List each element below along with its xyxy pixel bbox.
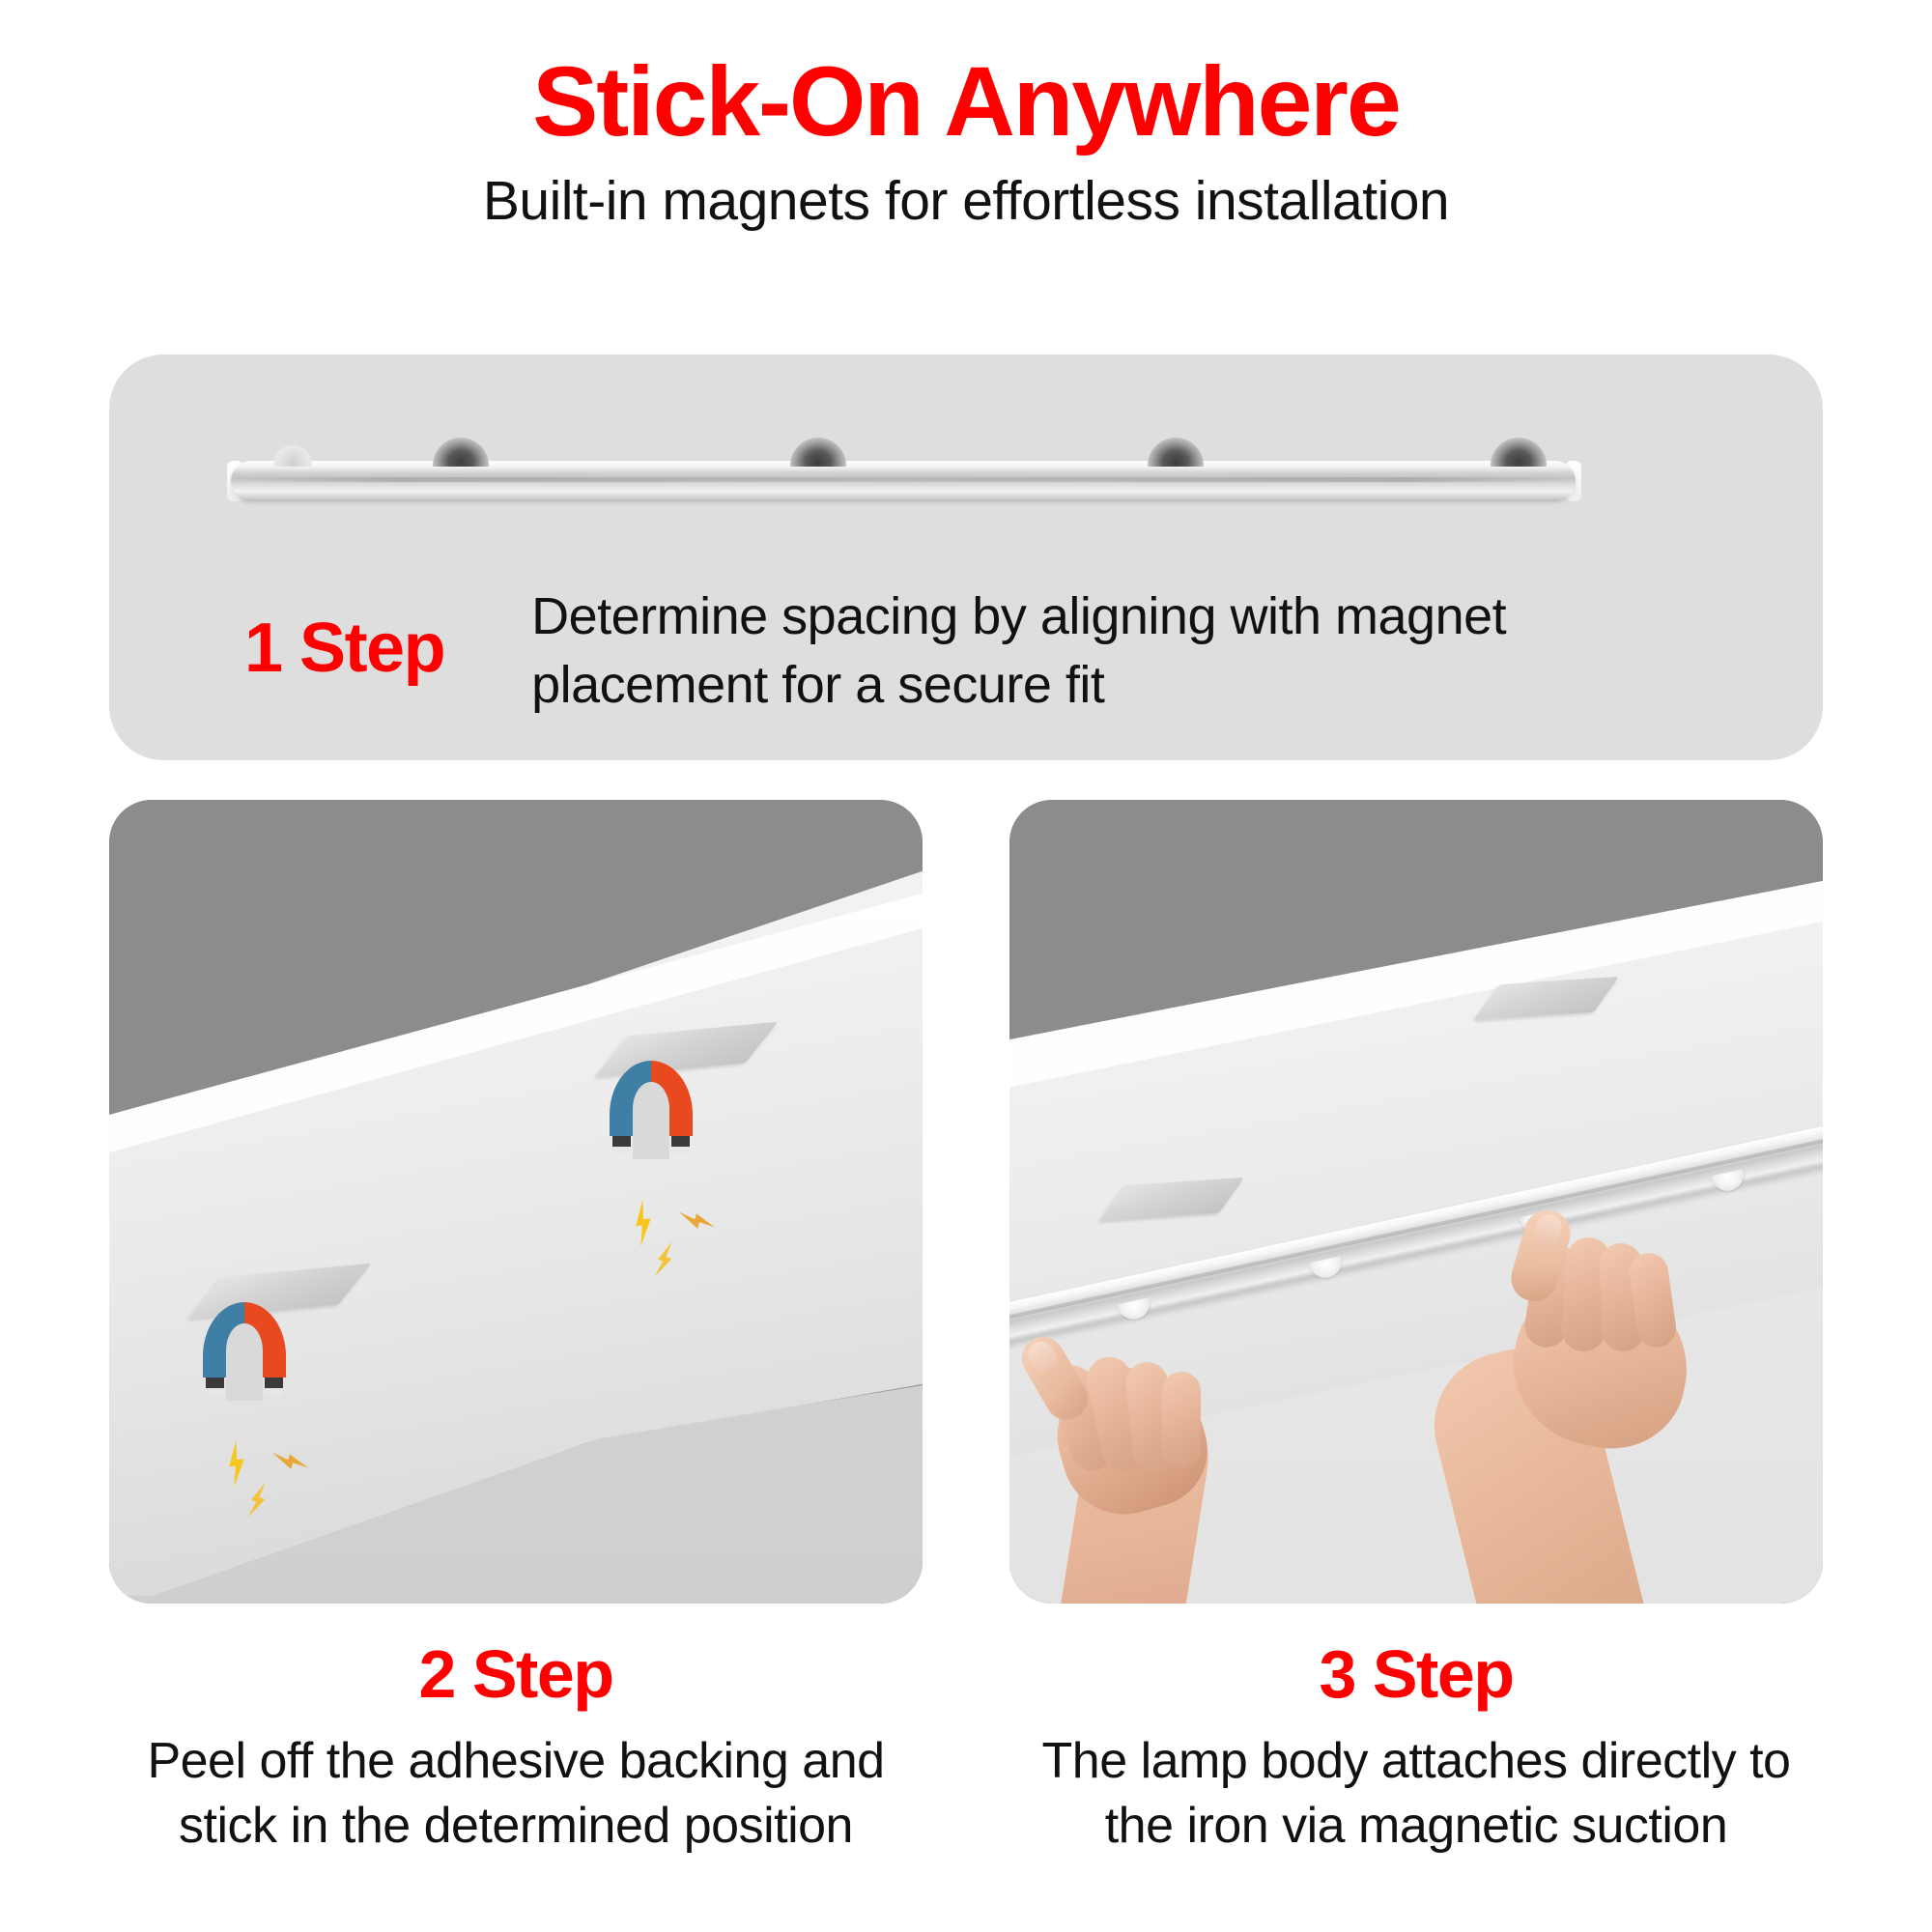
lamp-bar-illustration <box>109 355 1823 548</box>
step-2-description: Peel off the adhesive backing and stick … <box>109 1729 923 1858</box>
horseshoe-magnet-icon-right <box>610 1061 693 1153</box>
finger <box>1162 1372 1201 1468</box>
step-1-panel: 1 Step Determine spacing by aligning wit… <box>109 355 1823 760</box>
horseshoe-magnet-icon-left <box>203 1302 286 1395</box>
step-3-panel <box>1009 800 1823 1604</box>
magnet-bump-icon-0 <box>273 445 312 467</box>
magnet-tip-right <box>265 1378 283 1395</box>
left-hand-fingers <box>1054 1354 1247 1528</box>
step-1-text-row: 1 Step Determine spacing by aligning wit… <box>109 582 1823 721</box>
step-3-caption: 3 Step The lamp body attaches directly t… <box>1009 1640 1823 1858</box>
magnet-tip-left <box>206 1378 224 1395</box>
step-2-illustration <box>109 800 923 1604</box>
step-2-label: 2 Step <box>109 1640 923 1708</box>
magnet-bump-icon-2 <box>790 438 846 467</box>
step-3-illustration <box>1009 800 1823 1604</box>
magnet-inner-gap <box>633 1082 669 1159</box>
magnet-inner-gap <box>226 1323 263 1401</box>
fingernail <box>1024 1337 1061 1375</box>
step-2-caption: 2 Step Peel off the adhesive backing and… <box>109 1640 923 1858</box>
header: Stick-On Anywhere Built-in magnets for e… <box>0 0 1932 232</box>
magnetic-spark-group-right <box>626 1194 742 1300</box>
magnet-tip-right <box>671 1136 690 1153</box>
step-1-description: Determine spacing by aligning with magne… <box>531 582 1594 721</box>
step-2-panel <box>109 800 923 1604</box>
magnet-bump-icon-3 <box>1148 438 1204 467</box>
step-3-description: The lamp body attaches directly to the i… <box>1009 1729 1823 1858</box>
page-subtitle: Built-in magnets for effortless installa… <box>0 154 1932 232</box>
magnet-tip-left <box>612 1136 631 1153</box>
page-title: Stick-On Anywhere <box>0 0 1932 154</box>
magnetic-spark-group-left <box>219 1435 335 1541</box>
step-1-label: 1 Step <box>244 582 444 683</box>
lamp-bar-body <box>231 461 1576 501</box>
magnet-bump-icon-4 <box>1491 438 1547 467</box>
magnet-bump-icon-1 <box>433 438 489 467</box>
fingernail <box>1533 1211 1565 1246</box>
step-3-label: 3 Step <box>1009 1640 1823 1708</box>
